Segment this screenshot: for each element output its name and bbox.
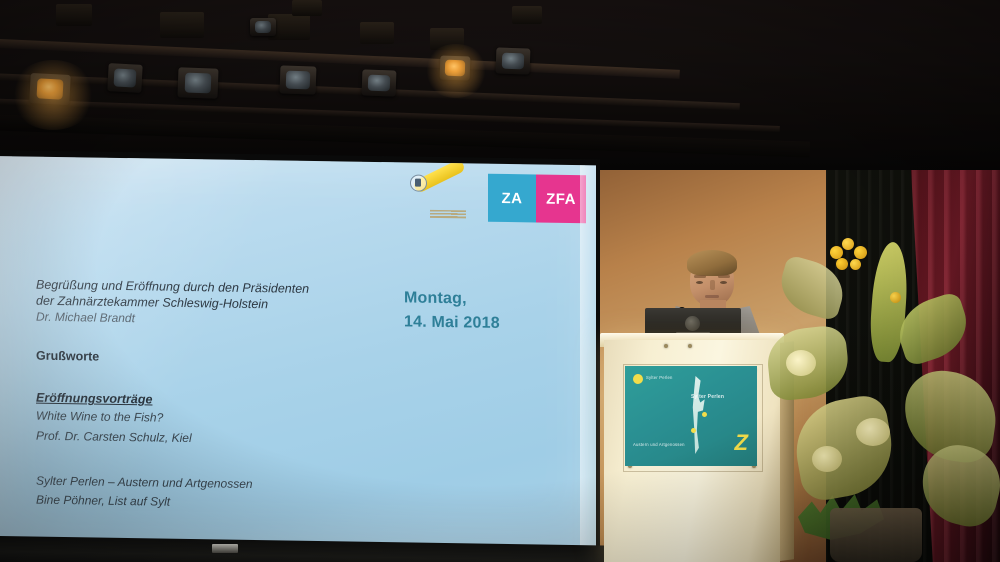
stage-spotlight-icon <box>440 55 471 80</box>
spotlight-lens <box>445 60 465 76</box>
presenter-nose <box>710 280 715 290</box>
agenda-spacer <box>36 444 366 475</box>
light-mount <box>292 0 322 16</box>
light-mount <box>160 12 204 38</box>
presenter-eye <box>696 281 703 284</box>
spotlight-lens <box>502 52 524 69</box>
badge-za: ZA <box>488 174 536 223</box>
agenda-item-1-title: White Wine to the Fish? <box>36 409 366 430</box>
flower-cream <box>786 350 816 376</box>
agenda-item-2-title: Sylter Perlen – Austern und Artgenossen <box>36 474 366 495</box>
lectern-screw-top <box>664 344 668 348</box>
light-mount <box>360 22 394 44</box>
zahnaerztekammer-logo <box>408 172 470 219</box>
stage-spotlight-icon <box>177 67 218 98</box>
poster-top-left-text: Sylter Perlen <box>646 375 690 381</box>
poster-z-logo: Z <box>735 432 748 454</box>
slide-date-weekday: Montag, <box>404 286 500 312</box>
poster-bottom-left-text: Austern und Artgenossen <box>633 442 685 448</box>
floral-arrangement <box>772 232 1000 562</box>
spotlight-lens <box>286 71 310 90</box>
poster-map-marker-icon <box>691 428 696 433</box>
presenter-hair <box>687 250 737 276</box>
flower-vase <box>830 508 922 562</box>
badge-zfa: ZFA <box>536 174 586 223</box>
spotlight-lens <box>37 79 64 100</box>
projection-screen: ZA ZFA Begrüßung und Eröffnung durch den… <box>0 156 596 546</box>
spotlight-lens <box>368 74 390 91</box>
slide-logo-row: ZA ZFA <box>408 172 586 223</box>
agenda-section-gruss: Grußworte <box>36 349 366 368</box>
flower-yellow <box>842 238 854 250</box>
light-mount <box>430 28 464 50</box>
floor-object <box>212 544 238 553</box>
stage-spotlight-icon <box>496 47 531 74</box>
flower-yellow <box>850 259 861 270</box>
screenshot-root: ZA ZFA Begrüßung und Eröffnung durch den… <box>0 0 1000 562</box>
slide-date: Montag, 14. Mai 2018 <box>404 286 500 336</box>
stage-spotlight-icon <box>250 18 276 36</box>
foliage <box>788 392 899 503</box>
flower-cream <box>812 446 842 472</box>
poster-map-marker-icon <box>702 412 707 417</box>
presenter-eye <box>720 281 727 284</box>
stage-spotlight-icon <box>362 69 397 96</box>
stage-spotlight-icon <box>280 65 317 94</box>
light-mount <box>56 4 92 26</box>
logo-seal-icon <box>410 175 427 192</box>
slide-agenda: Begrüßung und Eröffnung durch den Präsid… <box>36 277 366 514</box>
slide-date-value: 14. Mai 2018 <box>404 310 500 336</box>
flower-yellow <box>854 246 867 259</box>
light-mount <box>512 6 542 24</box>
presenter-mouth <box>705 295 719 298</box>
spotlight-lens <box>114 68 137 87</box>
agenda-heading-vortraege: Eröffnungsvorträge <box>36 391 366 410</box>
lectern: Sylter Perlen Sylter Perlen Austern und … <box>604 340 780 562</box>
stage-spotlight-icon <box>107 63 142 93</box>
flower-cream <box>856 418 890 446</box>
logo-wordmark <box>430 210 466 219</box>
flower-yellow <box>890 292 901 303</box>
poster-logo-icon <box>633 374 643 384</box>
presenter-brow <box>718 275 730 278</box>
lectern-screw-top <box>688 344 692 348</box>
spotlight-lens <box>255 21 272 33</box>
lighting-truss <box>0 38 680 79</box>
agenda-item-2-speaker: Bine Pöhner, List auf Sylt <box>36 493 366 514</box>
poster-title: Sylter Perlen <box>691 394 739 402</box>
presenter-brow <box>694 275 706 278</box>
laptop-logo-icon <box>685 316 700 331</box>
ceiling-area <box>0 0 1000 170</box>
lectern-poster: Sylter Perlen Sylter Perlen Austern und … <box>625 366 757 466</box>
spotlight-lens <box>185 73 211 93</box>
flower-yellow <box>836 258 848 270</box>
stage-spotlight-icon <box>29 73 71 105</box>
